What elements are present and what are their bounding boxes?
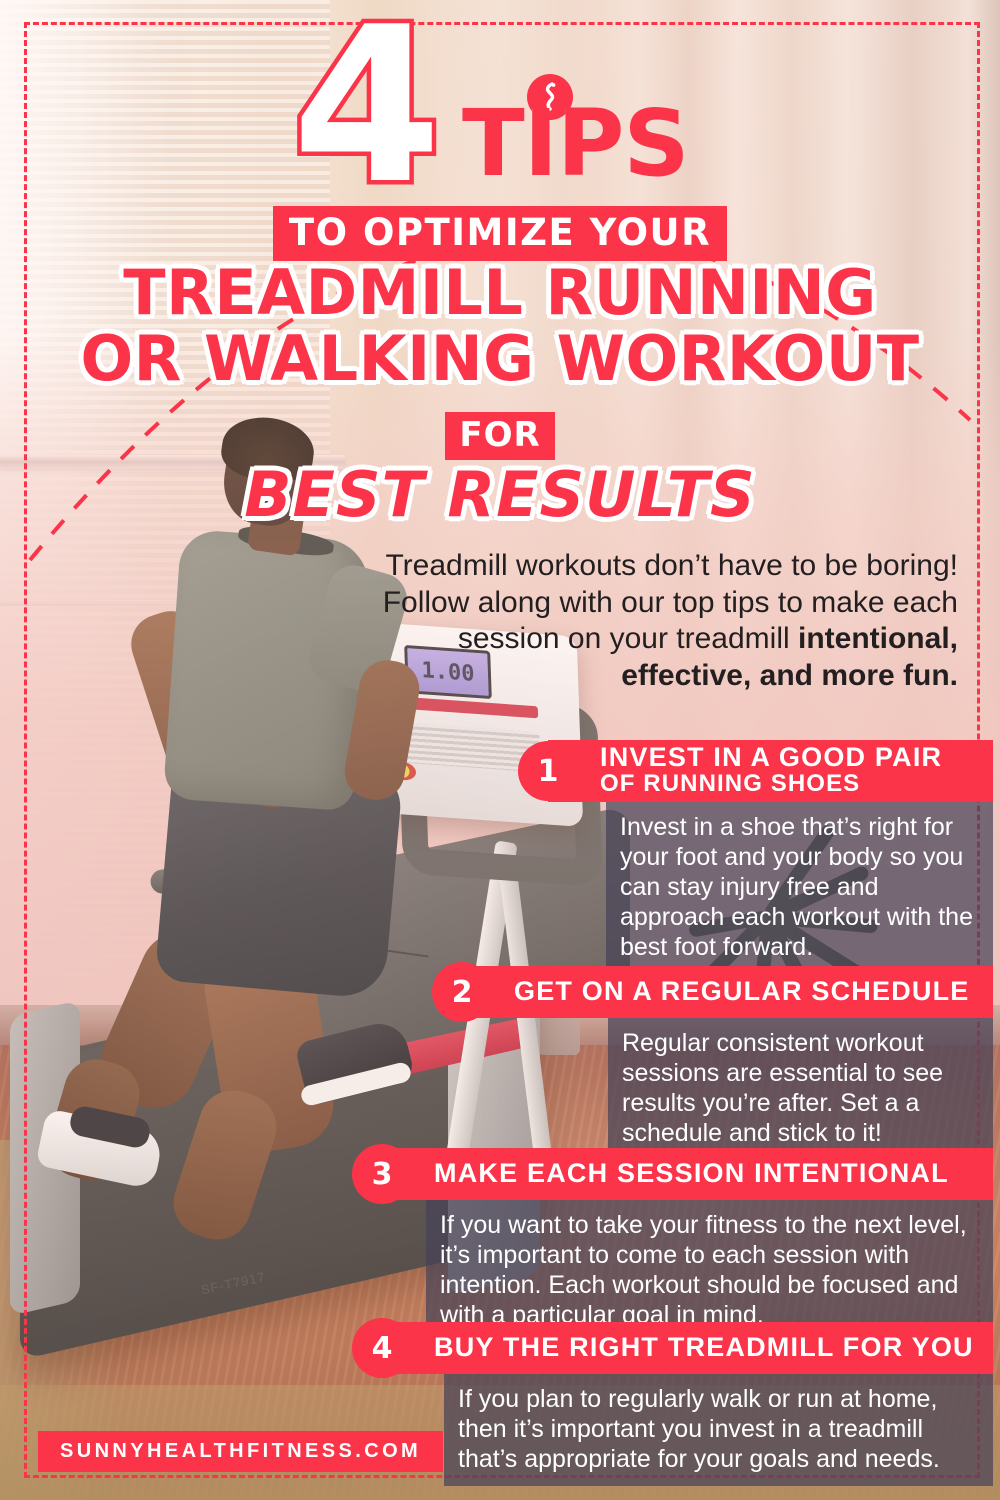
tip-card-4: 4 BUY THE RIGHT TREADMILL FOR YOU If you…: [382, 1322, 993, 1486]
tip-4-header: 4 BUY THE RIGHT TREADMILL FOR YOU: [382, 1322, 993, 1374]
tip-3-body: If you want to take your fitness to the …: [426, 1200, 993, 1342]
headline-for-badge: FOR: [0, 412, 1000, 460]
headline-title: TREADMILL RUNNING OR WALKING WORKOUT: [0, 260, 1000, 391]
headline-tips-word: TIPS: [462, 98, 689, 190]
infographic-header: 4 TIPS TO OPTIMIZE YOUR TREADMILL RUNNIN…: [0, 0, 1000, 215]
headline-title-line2: OR WALKING WORKOUT: [0, 326, 1000, 392]
headline-title-line1: TREADMILL RUNNING: [0, 260, 1000, 326]
tip-1-title-block: INVEST IN A GOOD PAIR OF RUNNING SHOES: [600, 744, 942, 796]
footer-website-url[interactable]: SUNNYHEALTHFITNESS.COM: [38, 1431, 443, 1472]
tip-4-number-badge: 4: [352, 1318, 412, 1378]
tip-1-subtitle: OF RUNNING SHOES: [600, 772, 942, 796]
headline-for-text: FOR: [445, 412, 554, 460]
tip-1-body: Invest in a shoe that’s right for your f…: [606, 802, 993, 974]
headline-kicker-text: TO OPTIMIZE YOUR: [273, 206, 727, 261]
tip-4-body: If you plan to regularly walk or run at …: [444, 1374, 993, 1486]
tip-2-number-badge: 2: [432, 962, 492, 1022]
intro-paragraph: Treadmill workouts don’t have to be bori…: [378, 548, 958, 694]
headline-emphasis-text: BEST RESULTS: [244, 458, 755, 531]
tip-1-number-badge: 1: [518, 741, 578, 801]
tip-card-3: 3 MAKE EACH SESSION INTENTIONAL If you w…: [382, 1148, 993, 1342]
tip-3-number-badge: 3: [352, 1144, 412, 1204]
headline-kicker: TO OPTIMIZE YOUR: [0, 206, 1000, 261]
tip-card-2: 2 GET ON A REGULAR SCHEDULE Regular cons…: [462, 966, 993, 1160]
tip-2-title: GET ON A REGULAR SCHEDULE: [514, 978, 970, 1006]
tip-4-title: BUY THE RIGHT TREADMILL FOR YOU: [434, 1334, 974, 1362]
tip-2-body: Regular consistent workout sessions are …: [608, 1018, 993, 1160]
tip-3-header: 3 MAKE EACH SESSION INTENTIONAL: [382, 1148, 993, 1200]
tip-2-header: 2 GET ON A REGULAR SCHEDULE: [462, 966, 993, 1018]
tip-card-1: 1 INVEST IN A GOOD PAIR OF RUNNING SHOES…: [548, 740, 993, 974]
tip-1-title: INVEST IN A GOOD PAIR: [600, 742, 942, 772]
headline-number: 4: [292, 18, 436, 194]
headline-emphasis: BEST RESULTS: [0, 458, 1000, 531]
tip-3-title: MAKE EACH SESSION INTENTIONAL: [434, 1160, 949, 1188]
tip-1-header: 1 INVEST IN A GOOD PAIR OF RUNNING SHOES: [548, 740, 993, 802]
